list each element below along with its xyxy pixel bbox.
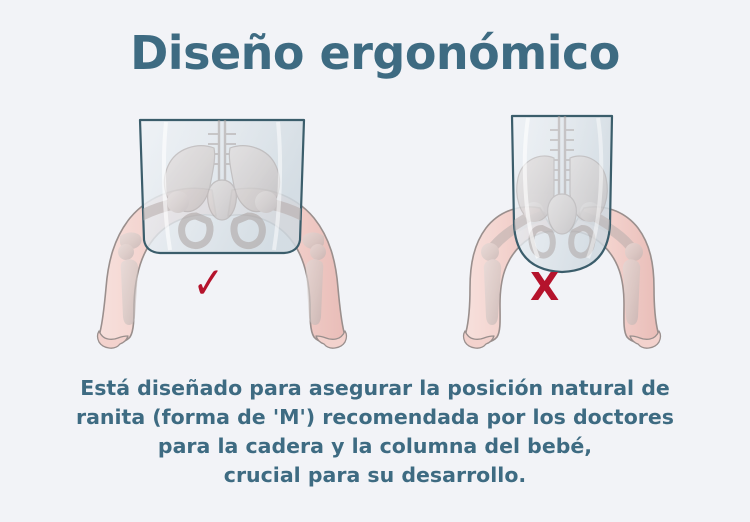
checkmark-icon: ✓ [193,262,224,306]
caption-line-3: para la cadera y la columna del bebé, [28,432,722,461]
page-title: Diseño ergonómico [0,28,750,79]
caption-text: Está diseñado para asegurar la posición … [0,374,750,490]
figure-ergonomic-correct [62,112,382,352]
caption-line-2: ranita (forma de 'M') recomendada por lo… [28,403,722,432]
infographic-card: Diseño ergonómico [0,0,750,522]
baby-m-position-illustration [62,112,382,352]
wide-diaper [112,120,332,253]
cross-icon: X [530,268,559,306]
caption-line-4: crucial para su desarrollo. [28,461,722,490]
figure-ergonomic-incorrect [402,112,722,352]
caption-line-1: Está diseñado para asegurar la posición … [28,374,722,403]
baby-hanging-legs-illustration [402,112,722,352]
figure-row [0,112,750,352]
